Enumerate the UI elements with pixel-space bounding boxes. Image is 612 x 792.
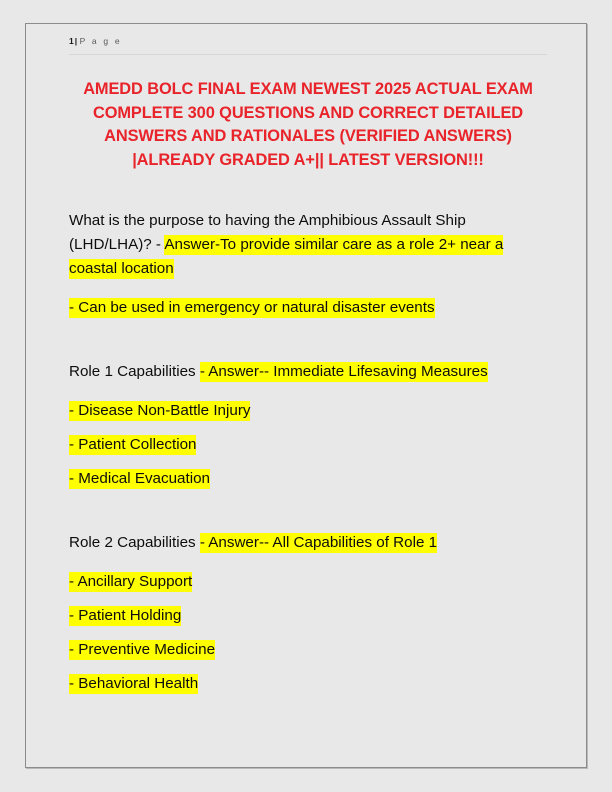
answer-highlight-2: - Answer-- Immediate Lifesaving Measures: [200, 362, 488, 382]
qa-block-3: Role 2 Capabilities - Answer-- All Capab…: [69, 531, 547, 555]
bullet-highlight-3-1: - Patient Holding: [69, 606, 181, 626]
qa-block-1: What is the purpose to having the Amphib…: [69, 209, 547, 281]
bullet-highlight-1-0: - Can be used in emergency or natural di…: [69, 298, 435, 318]
bullet-highlight-3-0: - Ancillary Support: [69, 572, 192, 592]
bullet-item: - Patient Holding: [69, 604, 547, 628]
bullet-item: - Patient Collection: [69, 433, 547, 457]
running-header: 1|P a g e: [69, 36, 547, 55]
section-spacer: [69, 501, 547, 531]
bullet-item: - Behavioral Health: [69, 672, 547, 696]
bullet-item: - Preventive Medicine: [69, 638, 547, 662]
question-text-3: Role 2 Capabilities: [69, 534, 200, 551]
section-spacer: [69, 330, 547, 360]
bullet-item: - Can be used in emergency or natural di…: [69, 296, 547, 320]
bullet-item: - Ancillary Support: [69, 570, 547, 594]
page-sheet: 1|P a g e AMEDD BOLC FINAL EXAM NEWEST 2…: [25, 23, 587, 768]
page-title: AMEDD BOLC FINAL EXAM NEWEST 2025 ACTUAL…: [69, 78, 547, 172]
header-page-label: P a g e: [80, 36, 122, 46]
bullet-highlight-2-0: - Disease Non-Battle Injury: [69, 401, 250, 421]
qa-block-2: Role 1 Capabilities - Answer-- Immediate…: [69, 360, 547, 384]
bullet-highlight-3-2: - Preventive Medicine: [69, 640, 215, 660]
header-separator: |: [75, 36, 78, 46]
page-content-area: 1|P a g e AMEDD BOLC FINAL EXAM NEWEST 2…: [69, 36, 547, 706]
document-canvas: 1|P a g e AMEDD BOLC FINAL EXAM NEWEST 2…: [0, 0, 612, 792]
document-body: What is the purpose to having the Amphib…: [69, 209, 547, 696]
bullet-item: - Medical Evacuation: [69, 467, 547, 491]
page-number: 1: [69, 36, 74, 46]
bullet-highlight-2-2: - Medical Evacuation: [69, 469, 210, 489]
bullet-highlight-3-3: - Behavioral Health: [69, 674, 198, 694]
answer-highlight-3: - Answer-- All Capabilities of Role 1: [200, 533, 437, 553]
bullet-highlight-2-1: - Patient Collection: [69, 435, 196, 455]
question-text-2: Role 1 Capabilities: [69, 363, 200, 380]
bullet-item: - Disease Non-Battle Injury: [69, 399, 547, 423]
